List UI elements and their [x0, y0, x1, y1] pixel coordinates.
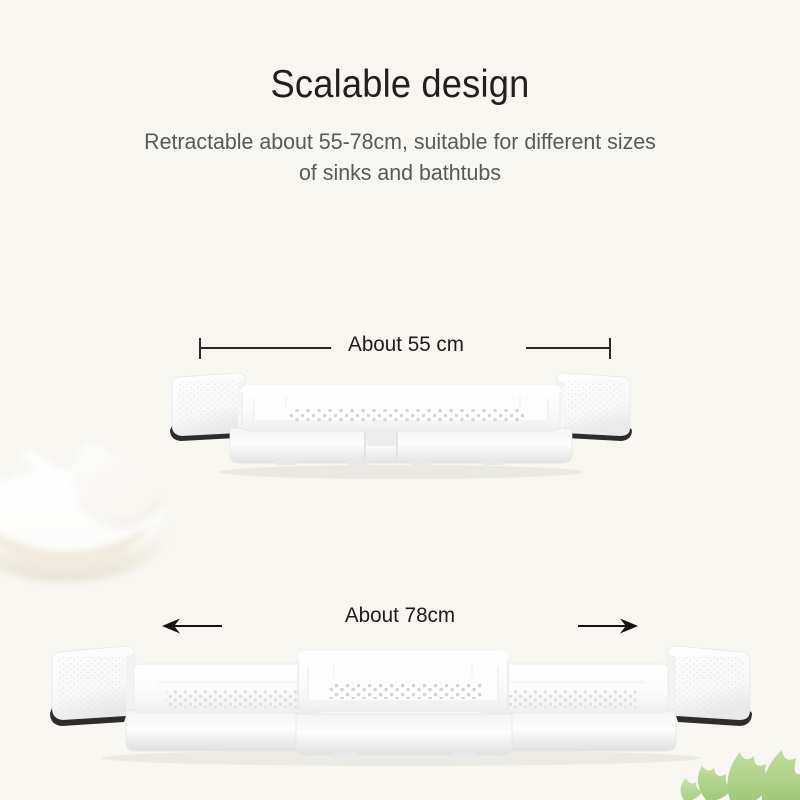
dimension-marker-retracted: About 55 cm: [199, 338, 611, 362]
page-subtitle: Retractable about 55-78cm, suitable for …: [68, 126, 733, 188]
dimension-marker-expanded: About 78cm: [160, 600, 640, 640]
arrow-left-icon: [160, 616, 222, 636]
dimension-label-expanded: About 78cm: [170, 600, 631, 630]
product-image-retracted: [168, 368, 634, 480]
right-wing-expanded: [668, 646, 752, 726]
arrow-right-icon: [578, 616, 640, 636]
dimension-line-right: [526, 347, 610, 349]
infographic-canvas: Scalable design Retractable about 55-78c…: [0, 0, 800, 800]
left-wing-expanded: [50, 646, 134, 726]
subtitle-line-1: Retractable about 55-78cm, suitable for …: [68, 126, 733, 157]
product-image-expanded: [48, 638, 754, 768]
dimension-label-retracted: About 55 cm: [331, 329, 481, 359]
dimension-line-left: [200, 347, 335, 349]
subtitle-line-2: of sinks and bathtubs: [68, 157, 733, 188]
page-title: Scalable design: [28, 60, 772, 110]
